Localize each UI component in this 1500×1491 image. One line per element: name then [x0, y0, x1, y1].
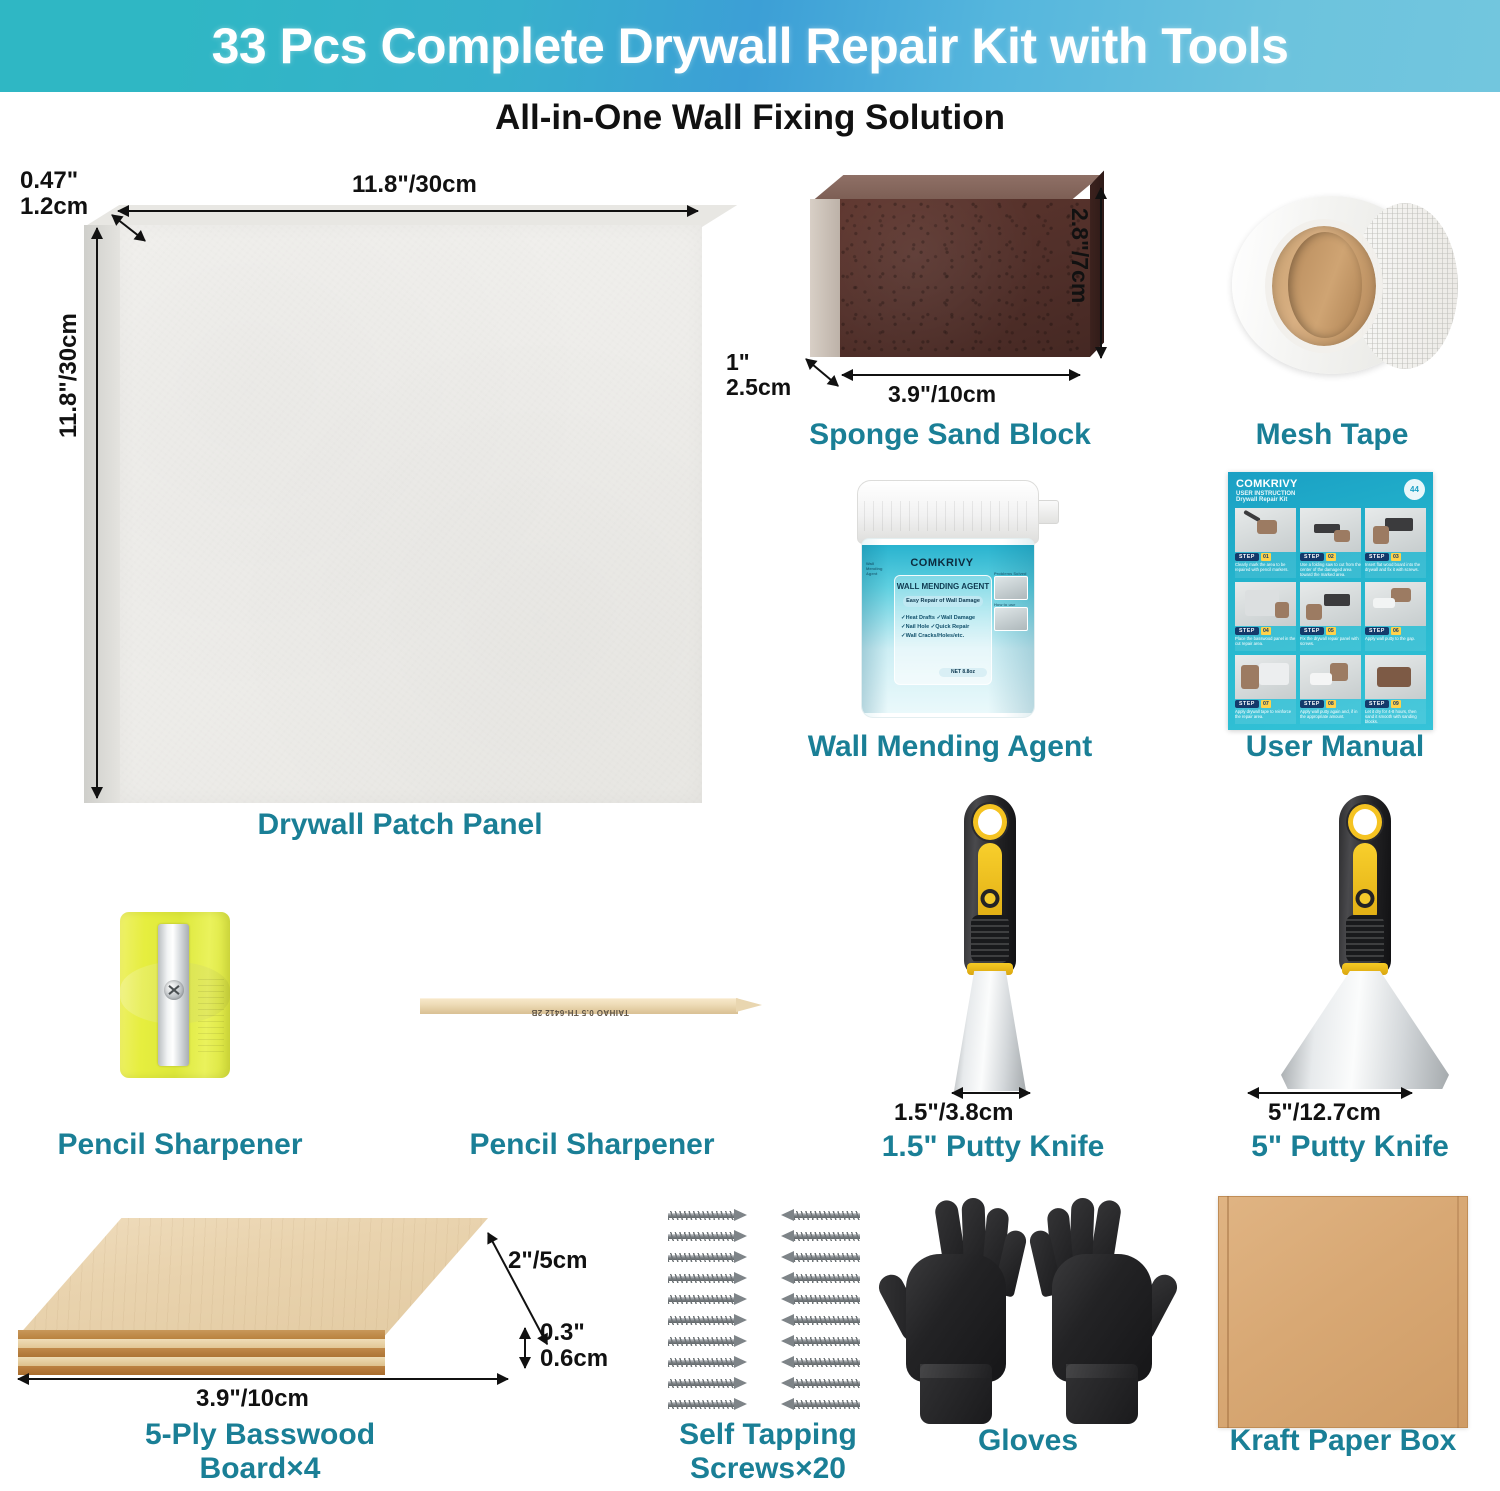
manual-step-cell: STEP 04 Place the basswood panel in the … — [1235, 582, 1296, 651]
board-width-dimension: 3.9"/10cm — [196, 1386, 309, 1412]
jar-label-panel: WALL MENDING AGENT Easy Repair of Wall D… — [894, 575, 992, 685]
sponge-width-arrow — [842, 374, 1080, 376]
mesh-tape-image — [1232, 196, 1472, 386]
box-left-seam — [1227, 1196, 1229, 1428]
manual-step-photo — [1235, 508, 1296, 552]
manual-step-word: STEP — [1365, 627, 1389, 635]
jar-net-weight: NET 8.8oz — [939, 668, 987, 677]
manual-step-text: Apply drywall tape to reinforce the repa… — [1235, 709, 1296, 724]
pencil-imprint: TAIHAO 0.5 TH-6412 2B — [490, 1008, 670, 1017]
manual-step-photo — [1300, 655, 1361, 699]
manual-step-number: 06 — [1391, 627, 1401, 635]
manual-step-number: 02 — [1326, 553, 1336, 561]
manual-step-badge: STEP 03 — [1365, 553, 1426, 561]
manual-step-photo — [1235, 655, 1296, 699]
knife-grip-dot — [985, 893, 996, 904]
screw-item — [768, 1310, 860, 1331]
jar-howto-heading: How to use — [994, 602, 1030, 607]
screw-item — [768, 1205, 860, 1226]
caption-sponge-sand-block: Sponge Sand Block — [780, 418, 1120, 452]
screw-item — [768, 1373, 860, 1394]
manual-step-badge: STEP 09 — [1365, 700, 1426, 708]
screw-item — [668, 1247, 760, 1268]
panel-side-face — [84, 225, 120, 803]
jar-thumb-1 — [994, 576, 1028, 600]
manual-step-badge: STEP 01 — [1235, 553, 1296, 561]
manual-step-badge: STEP 05 — [1300, 627, 1361, 635]
manual-step-cell: STEP 07 Apply drywall tape to reinforce … — [1235, 655, 1296, 725]
knife-textured-grip — [971, 915, 1009, 963]
jar-thumb-2 — [994, 607, 1028, 631]
glove-left — [888, 1198, 1022, 1426]
screw-item — [668, 1352, 760, 1373]
sponge-width-dimension: 3.9"/10cm — [888, 382, 996, 407]
manual-step-cell: STEP 09 Let it dry for 4-8 hours, then s… — [1365, 655, 1426, 725]
jar-feature-2: ✓Nail Hole ✓Quick Repair — [901, 623, 969, 632]
manual-step-photo — [1300, 508, 1361, 552]
kraft-paper-box-image — [1218, 1196, 1468, 1428]
manual-step-cell: STEP 05 Fix the drywall repair panel wit… — [1300, 582, 1361, 651]
screw-item — [668, 1205, 760, 1226]
panel-height-dimension: 11.8"/30cm — [56, 313, 82, 438]
manual-brand: COMKRIVY — [1236, 478, 1298, 490]
jar-lid — [857, 480, 1039, 544]
panel-top-face — [84, 205, 737, 227]
manual-step-badge: STEP 02 — [1300, 553, 1361, 561]
screw-item — [768, 1394, 860, 1415]
manual-step-word: STEP — [1365, 553, 1389, 561]
drywall-patch-panel-image — [84, 205, 702, 805]
knife-blade — [1281, 971, 1449, 1089]
manual-step-badge: STEP 04 — [1235, 627, 1296, 635]
self-tapping-screws-image — [668, 1205, 868, 1420]
putty-knife-large-image — [1250, 795, 1480, 1095]
screw-item — [768, 1289, 860, 1310]
manual-step-number: 05 — [1326, 627, 1336, 635]
manual-step-number: 07 — [1261, 700, 1271, 708]
screw-item — [668, 1268, 760, 1289]
jar-label-side-left-text: Wall Mending Agent — [866, 561, 888, 576]
manual-step-number: 09 — [1391, 700, 1401, 708]
board-ply-layer — [18, 1330, 385, 1339]
board-ply-layer — [18, 1357, 385, 1366]
board-top-face — [18, 1218, 488, 1336]
caption-putty-knife-large: 5" Putty Knife — [1200, 1130, 1500, 1164]
board-width-arrow — [18, 1378, 508, 1380]
manual-step-text: Apply wall putty to the gap. — [1365, 636, 1426, 651]
knife-grip-dot — [1360, 893, 1371, 904]
manual-step-text: Apply wall putty again and, if in the ap… — [1300, 709, 1361, 724]
gloves-image — [888, 1198, 1168, 1428]
caption-drywall-patch-panel: Drywall Patch Panel — [150, 808, 650, 842]
caption-wall-mending-agent: Wall Mending Agent — [770, 730, 1130, 764]
screw-column-left — [668, 1205, 760, 1415]
jar-brand-text: COMKRIVY — [896, 557, 988, 569]
manual-steps-grid: STEP 01 Clearly mark the area to be repa… — [1235, 508, 1426, 724]
knife-small-blade-arrow — [952, 1092, 1030, 1094]
jar-tagline: Easy Repair of Wall Damage — [903, 596, 983, 607]
screw-item — [668, 1289, 760, 1310]
glove-palm — [1052, 1254, 1152, 1382]
jar-problems-heading: Problems Solved — [994, 571, 1030, 576]
manual-step-cell: STEP 08 Apply wall putty again and, if i… — [1300, 655, 1361, 725]
caption-gloves: Gloves — [878, 1424, 1178, 1458]
manual-step-word: STEP — [1300, 553, 1324, 561]
screw-column-right — [768, 1205, 860, 1415]
panel-width-arrow — [118, 210, 698, 212]
manual-step-word: STEP — [1300, 700, 1324, 708]
knife-yellow-grip — [1353, 843, 1377, 925]
manual-step-cell: STEP 01 Clearly mark the area to be repa… — [1235, 508, 1296, 578]
screw-item — [768, 1247, 860, 1268]
manual-step-photo — [1365, 582, 1426, 626]
pencil-body: TAIHAO 0.5 TH-6412 2B — [420, 998, 738, 1014]
product-infographic: 33 Pcs Complete Drywall Repair Kit with … — [0, 0, 1500, 1491]
screw-item — [668, 1331, 760, 1352]
manual-step-cell: STEP 06 Apply wall putty to the gap. — [1365, 582, 1426, 651]
sponge-left-face — [810, 199, 840, 357]
caption-user-manual: User Manual — [1170, 730, 1500, 764]
box-front-face — [1218, 1196, 1468, 1428]
basswood-board-image — [18, 1218, 518, 1378]
manual-step-word: STEP — [1300, 627, 1324, 635]
screw-item — [768, 1331, 860, 1352]
manual-step-photo — [1235, 582, 1296, 626]
board-ply-layer — [18, 1366, 385, 1375]
board-thickness-dimension: 0.3" 0.6cm — [540, 1320, 608, 1372]
manual-step-text: Fix the drywall repair panel with screws… — [1300, 636, 1361, 651]
knife-large-blade-arrow — [1248, 1092, 1412, 1094]
glove-cuff — [1066, 1364, 1138, 1424]
manual-step-text: Use a folding saw to cut from the center… — [1300, 562, 1361, 578]
knife-blade — [954, 971, 1026, 1091]
jar-label: Wall Mending Agent COMKRIVY WALL MENDING… — [862, 545, 1034, 713]
sharpener-grip-ribs — [198, 978, 224, 1052]
board-depth-dimension: 2"/5cm — [508, 1248, 587, 1274]
screw-item — [768, 1268, 860, 1289]
panel-thickness-dimension: 0.47" 1.2cm — [20, 168, 88, 220]
screw-item — [768, 1226, 860, 1247]
manual-step-number: 01 — [1261, 553, 1271, 561]
knife-yellow-grip — [978, 843, 1002, 925]
panel-width-dimension: 11.8"/30cm — [352, 172, 477, 198]
jar-label-right-column: Problems Solved How to use — [994, 571, 1030, 633]
putty-knife-small-image — [905, 795, 1075, 1095]
manual-step-number: 04 — [1261, 627, 1271, 635]
manual-step-cell: STEP 03 Insert flat wood board into the … — [1365, 508, 1426, 578]
sponge-sand-block-image — [810, 175, 1100, 380]
manual-step-text: Let it dry for 4-8 hours, then sand it s… — [1365, 709, 1426, 725]
manual-step-photo — [1300, 582, 1361, 626]
manual-step-word: STEP — [1235, 627, 1259, 635]
caption-mesh-tape: Mesh Tape — [1172, 418, 1492, 452]
pencil-sharpener-image — [120, 912, 240, 1082]
pencil-tip — [736, 998, 762, 1012]
manual-step-word: STEP — [1235, 700, 1259, 708]
manual-step-photo — [1365, 655, 1426, 699]
manual-step-word: STEP — [1235, 553, 1259, 561]
glove-cuff — [920, 1364, 992, 1424]
caption-basswood-board: 5-Ply Basswood Board×4 — [0, 1418, 520, 1485]
knife-small-blade-dimension: 1.5"/3.8cm — [894, 1100, 1013, 1126]
manual-step-number: 03 — [1391, 553, 1401, 561]
board-ply-edge — [18, 1330, 385, 1340]
knife-hang-hole — [1353, 809, 1377, 835]
manual-step-photo — [1365, 508, 1426, 552]
caption-putty-knife-small: 1.5" Putty Knife — [828, 1130, 1158, 1164]
board-ply-layer — [18, 1339, 385, 1348]
manual-step-badge: STEP 06 — [1365, 627, 1426, 635]
sponge-front-face — [840, 199, 1090, 357]
glove-palm — [906, 1254, 1006, 1382]
page-subtitle: All-in-One Wall Fixing Solution — [0, 98, 1500, 138]
sponge-height-arrow — [1100, 188, 1102, 358]
sponge-depth-dimension: 1" 2.5cm — [726, 350, 791, 400]
board-ply-layer — [18, 1348, 385, 1357]
manual-step-badge: STEP 07 — [1235, 700, 1296, 708]
knife-large-blade-dimension: 5"/12.7cm — [1268, 1100, 1381, 1126]
manual-step-text: Clearly mark the area to be repaired wit… — [1235, 562, 1296, 577]
caption-pencil-sharpener: Pencil Sharpener — [20, 1128, 340, 1162]
jar-product-name: WALL MENDING AGENT — [895, 582, 991, 591]
manual-logo: 44 — [1404, 479, 1425, 500]
manual-header: COMKRIVY USER INSTRUCTION Drywall Repair… — [1236, 478, 1298, 503]
sponge-height-dimension: 2.8"/7cm — [1067, 208, 1092, 303]
user-manual-image: COMKRIVY USER INSTRUCTION Drywall Repair… — [1228, 472, 1433, 730]
header-banner: 33 Pcs Complete Drywall Repair Kit with … — [0, 0, 1500, 92]
jar-body: Wall Mending Agent COMKRIVY WALL MENDING… — [861, 538, 1035, 718]
box-right-seam — [1457, 1196, 1459, 1428]
tape-core-hole — [1288, 232, 1362, 338]
panel-height-arrow — [96, 228, 98, 798]
manual-line-3: Drywall Repair Kit — [1236, 497, 1298, 503]
page-title: 33 Pcs Complete Drywall Repair Kit with … — [212, 17, 1289, 75]
knife-textured-grip — [1346, 915, 1384, 963]
caption-kraft-paper-box: Kraft Paper Box — [1188, 1424, 1498, 1458]
caption-pencil: Pencil Sharpener — [432, 1128, 752, 1162]
jar-feature-3: ✓Wall Cracks/Holes/etc. — [901, 632, 964, 641]
knife-hang-hole — [978, 809, 1002, 835]
board-thickness-arrow — [524, 1328, 526, 1368]
manual-step-cell: STEP 02 Use a folding saw to cut from th… — [1300, 508, 1361, 578]
screw-item — [668, 1226, 760, 1247]
screw-item — [668, 1373, 760, 1394]
panel-front-face — [120, 225, 702, 803]
manual-step-word: STEP — [1365, 700, 1389, 708]
manual-step-text: Insert flat wood board into the drywall … — [1365, 562, 1426, 577]
pencil-image: TAIHAO 0.5 TH-6412 2B — [420, 992, 765, 1018]
manual-step-number: 08 — [1326, 700, 1336, 708]
wall-mending-agent-image: Wall Mending Agent COMKRIVY WALL MENDING… — [845, 480, 1060, 725]
screw-item — [668, 1394, 760, 1415]
sharpener-screw — [164, 980, 184, 1000]
manual-step-text: Place the basswood panel in the cut repa… — [1235, 636, 1296, 651]
screw-item — [768, 1352, 860, 1373]
jar-feature-1: ✓Heat Drafts ✓Wall Damage — [901, 614, 975, 623]
jar-feature-list: ✓Heat Drafts ✓Wall Damage ✓Nail Hole ✓Qu… — [901, 614, 987, 641]
screw-item — [668, 1310, 760, 1331]
manual-step-badge: STEP 08 — [1300, 700, 1361, 708]
glove-right — [1034, 1198, 1168, 1426]
